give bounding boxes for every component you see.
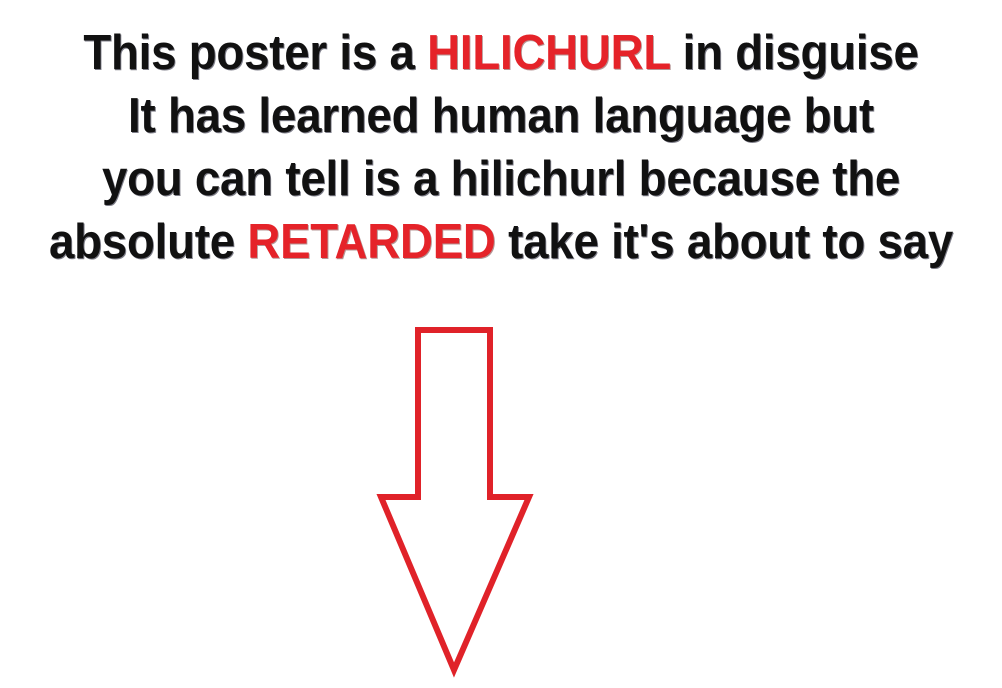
caption-block: This poster is a HILICHURL in disguise I…: [0, 22, 1002, 274]
caption-highlight-retarded: RETARDED: [247, 215, 495, 269]
caption-line-3: you can tell is a hilichurl because the: [35, 148, 967, 211]
caption-line-1: This poster is a HILICHURL in disguise: [35, 22, 967, 85]
caption-highlight-hilichurl: HILICHURL: [427, 26, 670, 80]
caption-segment: This poster is a: [83, 26, 427, 80]
caption-line-4: absolute RETARDED take it's about to say: [35, 211, 967, 274]
meme-canvas: This poster is a HILICHURL in disguise I…: [0, 0, 1002, 688]
arrow-down-outline-icon: [372, 318, 540, 684]
caption-segment: absolute: [49, 215, 247, 269]
caption-segment: in disguise: [670, 26, 918, 80]
caption-line-2: It has learned human language but: [35, 85, 967, 148]
caption-segment: you can tell is a hilichurl because the: [102, 152, 900, 206]
arrow-container: [372, 318, 540, 684]
caption-segment: It has learned human language but: [128, 89, 874, 143]
caption-segment: take it's about to say: [496, 215, 953, 269]
arrow-down-shape: [381, 330, 529, 670]
